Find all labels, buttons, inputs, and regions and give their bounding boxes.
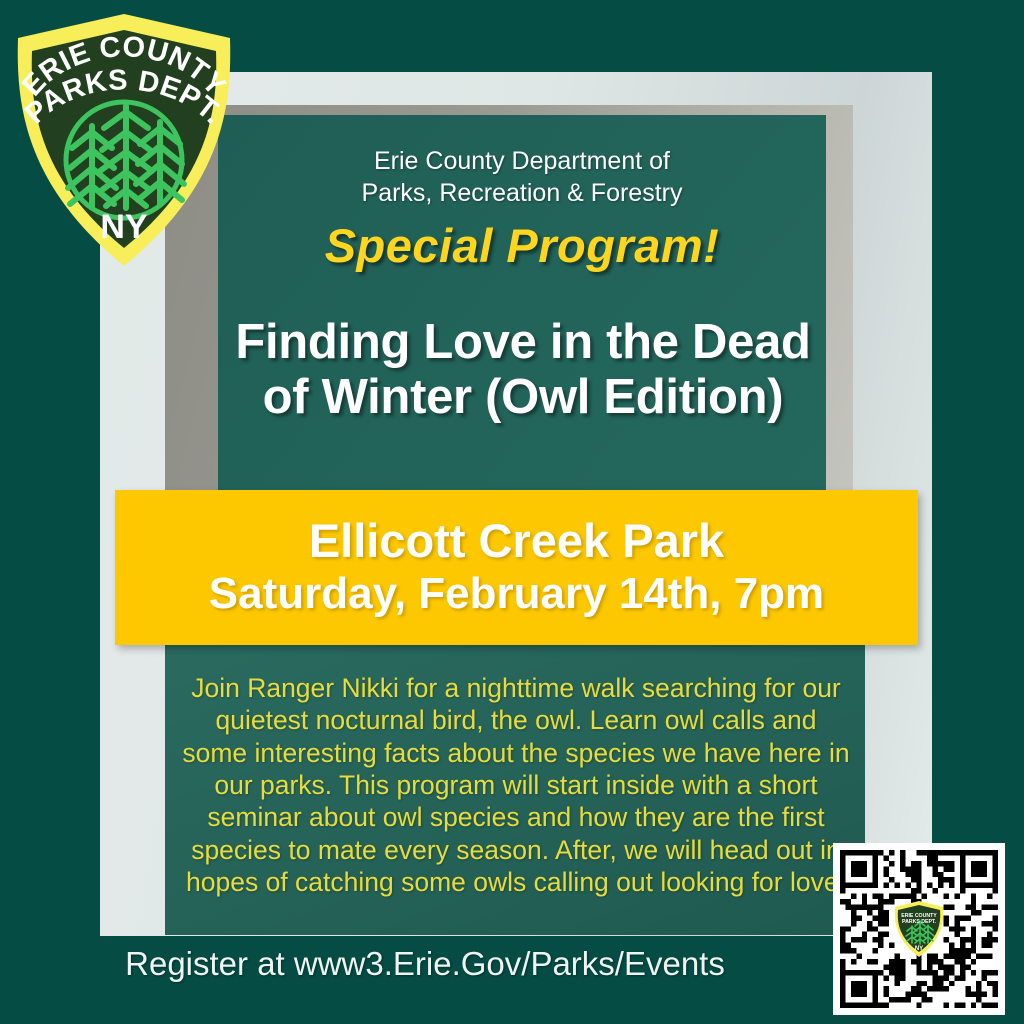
department-line-2: Parks, Recreation & Forestry bbox=[218, 177, 826, 209]
shield-state-label: NY bbox=[100, 208, 148, 246]
qr-code[interactable]: ERIE COUNTY PARKS DEPT. NY bbox=[833, 843, 1005, 1015]
svg-text:NY: NY bbox=[915, 946, 923, 952]
event-location: Ellicott Creek Park bbox=[309, 516, 724, 565]
registration-instructions: Register at www3.Erie.Gov/Parks/Events bbox=[0, 945, 850, 983]
svg-text:PARKS DEPT.: PARKS DEPT. bbox=[902, 919, 936, 925]
page-title-line-1: Finding Love in the Dead bbox=[200, 315, 846, 370]
event-description: Join Ranger Nikki for a nighttime walk s… bbox=[180, 672, 852, 898]
parks-department-logo: ERIE COUNTY PARKS DEPT. NY bbox=[8, 8, 240, 276]
page-title: Finding Love in the Dead of Winter (Owl … bbox=[200, 315, 846, 426]
page-title-line-2: of Winter (Owl Edition) bbox=[200, 370, 846, 425]
event-datetime: Saturday, February 14th, 7pm bbox=[209, 569, 824, 620]
department-line-1: Erie County Department of bbox=[218, 145, 826, 177]
department-name: Erie County Department of Parks, Recreat… bbox=[218, 145, 826, 209]
event-details-banner: Ellicott Creek Park Saturday, February 1… bbox=[115, 490, 918, 645]
qr-center-logo: ERIE COUNTY PARKS DEPT. NY bbox=[893, 900, 945, 958]
special-program-kicker: Special Program! bbox=[218, 218, 826, 273]
